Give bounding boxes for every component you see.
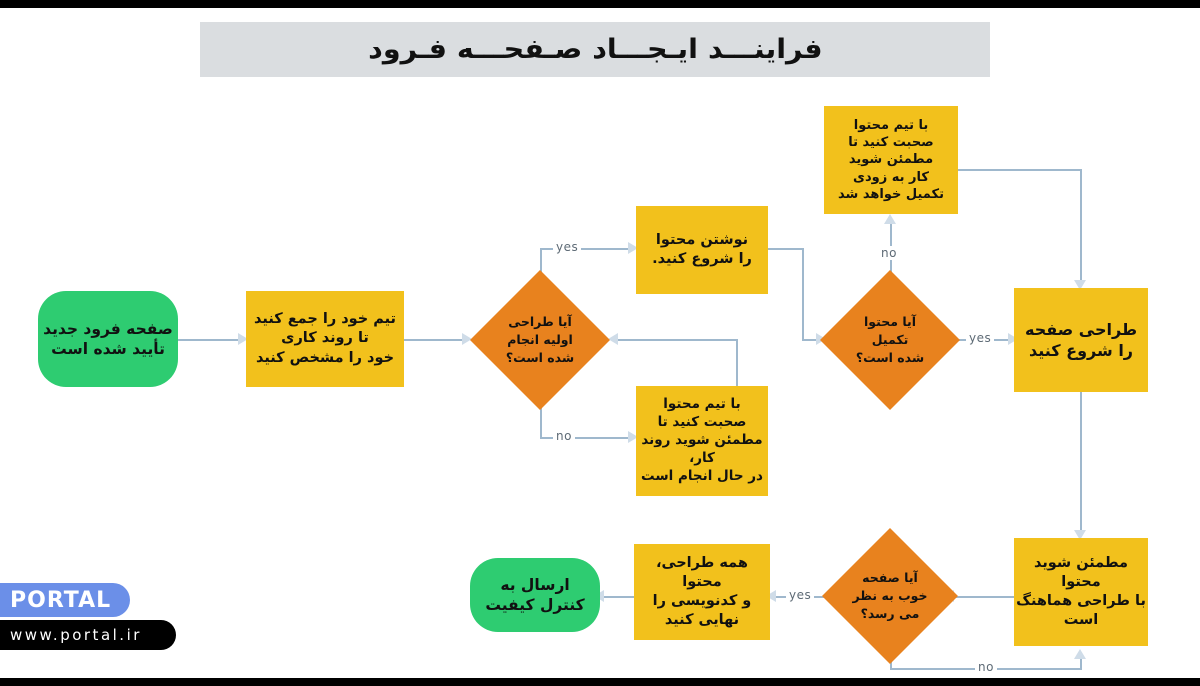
node-talk-content-soon[interactable]: با تیم محتوا صحبت کنید تا مطمئن شوید کار…	[824, 106, 958, 214]
edge-start-to-gather	[178, 339, 240, 341]
node-question-initial-design[interactable]: آیا طراحی اولیه انجام شده است؟	[470, 270, 610, 410]
edge-finalize-to-qa-h	[600, 596, 634, 598]
edge-align-to-qlooks-h	[950, 596, 1016, 598]
arrowhead-align-bottom	[1074, 649, 1086, 659]
node-start-design-text: طراحی صفحه را شروع کنید	[1025, 319, 1137, 361]
watermark-brand-pill: PORTAL	[0, 583, 130, 617]
node-talk-content-team-text: با تیم محتوا صحبت کنید تا مطمئن شوید رون…	[636, 396, 768, 485]
page-title: فراینـــد ایـجـــاد صـفحـــه فـرود	[368, 34, 822, 65]
edge-talkteam-loop-v	[736, 339, 738, 388]
node-align-content-design-text: مطمئن شوید محتوا با طراحی هماهنگ است	[1014, 554, 1148, 631]
node-send-to-qa[interactable]: ارسال به کنترل کیفیت	[470, 558, 600, 632]
node-question-content-complete[interactable]: آیا محتوا تکمیل شده است؟	[820, 270, 960, 410]
edge-talksoon-v	[1080, 169, 1082, 282]
node-question-initial-design-text: آیا طراحی اولیه انجام شده است؟	[470, 270, 610, 410]
edge-talkteam-loop-h	[618, 339, 738, 341]
node-start-text: صفحه فرود جدید تأیید شده است	[43, 319, 173, 360]
edge-gather-to-qdesign	[404, 339, 464, 341]
edge-design-to-align-v	[1080, 392, 1082, 532]
edge-qlooks-no-v2	[1080, 658, 1082, 670]
edge-label-design-yes: yes	[553, 240, 581, 254]
node-start-design[interactable]: طراحی صفحه را شروع کنید	[1014, 288, 1148, 392]
node-send-to-qa-text: ارسال به کنترل کیفیت	[485, 575, 584, 616]
edge-label-looks-yes: yes	[786, 588, 814, 602]
node-write-content[interactable]: نوشتن محتوا را شروع کنید.	[636, 206, 768, 294]
edge-write-to-qcontent-v	[802, 248, 804, 340]
node-talk-content-team[interactable]: با تیم محتوا صحبت کنید تا مطمئن شوید رون…	[636, 386, 768, 496]
watermark-url-text: www.portal.ir	[10, 626, 142, 644]
watermark-url-pill: www.portal.ir	[0, 620, 176, 650]
edge-talksoon-h	[958, 169, 1082, 171]
node-write-content-text: نوشتن محتوا را شروع کنید.	[652, 231, 752, 269]
edge-label-looks-no: no	[975, 660, 997, 674]
node-question-page-looks-good[interactable]: آیا صفحه خوب به نظر می رسد؟	[822, 528, 958, 664]
node-gather-team-text: تیم خود را جمع کنید تا روند کاری خود را …	[254, 310, 396, 367]
node-finalize[interactable]: همه طراحی، محتوا و کدنویسی را نهایی کنید	[634, 544, 770, 640]
edge-label-design-no: no	[553, 429, 575, 443]
node-question-content-complete-text: آیا محتوا تکمیل شده است؟	[820, 270, 960, 410]
edge-write-to-qcontent-h1	[768, 248, 804, 250]
title-banner: فراینـــد ایـجـــاد صـفحـــه فـرود	[200, 22, 990, 77]
node-start[interactable]: صفحه فرود جدید تأیید شده است	[38, 291, 178, 387]
node-align-content-design[interactable]: مطمئن شوید محتوا با طراحی هماهنگ است	[1014, 538, 1148, 646]
flowchart-canvas: فراینـــد ایـجـــاد صـفحـــه فـرود yes n…	[0, 8, 1200, 678]
arrowhead-talk-soon	[884, 214, 896, 224]
node-talk-content-soon-text: با تیم محتوا صحبت کنید تا مطمئن شوید کار…	[838, 117, 944, 203]
node-finalize-text: همه طراحی، محتوا و کدنویسی را نهایی کنید	[634, 554, 770, 631]
watermark-brand-text: PORTAL	[10, 588, 111, 613]
node-question-page-looks-good-text: آیا صفحه خوب به نظر می رسد؟	[822, 528, 958, 664]
edge-label-content-yes: yes	[966, 331, 994, 345]
edge-label-content-no: no	[878, 246, 900, 260]
node-gather-team[interactable]: تیم خود را جمع کنید تا روند کاری خود را …	[246, 291, 404, 387]
